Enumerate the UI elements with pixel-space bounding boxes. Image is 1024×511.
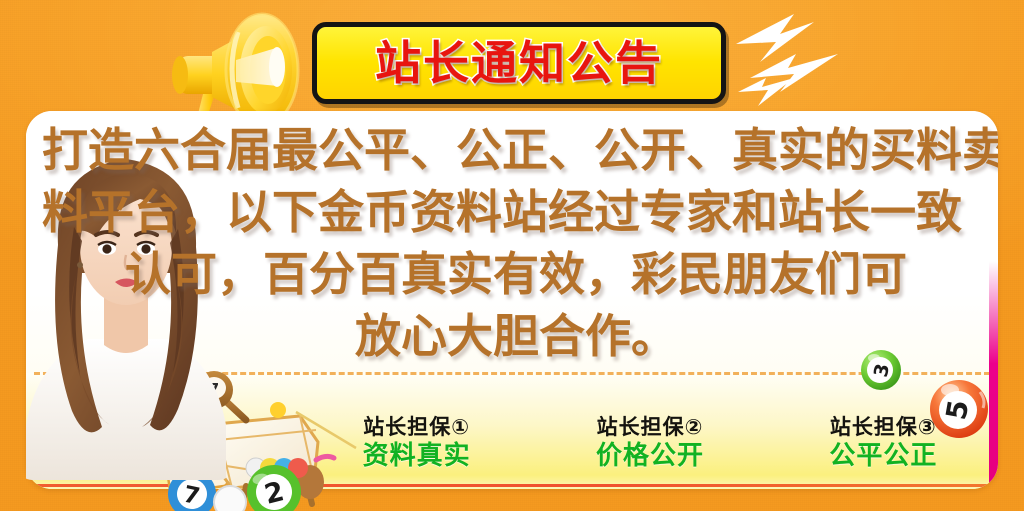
page-title: 站长通知公告 (375, 40, 663, 86)
lightning-bolt-icon (722, 8, 862, 112)
guarantee-sub-3: 公平公正 (767, 440, 1000, 472)
guarantee-title-1: 站长担保① (300, 414, 533, 440)
guarantee-item-3: 站长担保③ 公平公正 (767, 414, 1000, 494)
guarantee-sub-1: 资料真实 (300, 440, 533, 472)
announcement-line-3: 认可，百分百真实有效，彩民朋友们可 (42, 243, 990, 305)
announcement-banner-image: 站长通知公告 打造六合届最公平、公正、公开、真实的买料卖 料平台，以下金币资料站… (0, 0, 1024, 511)
guarantee-sub-2: 价格公开 (533, 440, 766, 472)
announcement-line-4: 放心大胆合作。 (42, 305, 990, 367)
guarantee-title-2: 站长担保② (533, 414, 766, 440)
guarantee-item-2: 站长担保② 价格公开 (533, 414, 766, 494)
announcement-text: 打造六合届最公平、公正、公开、真实的买料卖 料平台，以下金币资料站经过专家和站长… (42, 119, 990, 367)
guarantee-title-3: 站长担保③ (767, 414, 1000, 440)
guarantee-item-1: 站长担保① 资料真实 (300, 414, 533, 494)
lottery-ball-green: 3 (860, 349, 902, 391)
guarantee-list: 站长担保① 资料真实 站长担保② 价格公开 站长担保③ 公平公正 (300, 414, 1000, 494)
announcement-title-banner: 站长通知公告 (312, 22, 726, 104)
announcement-line-1: 打造六合届最公平、公正、公开、真实的买料卖 (42, 119, 990, 181)
announcement-line-2: 料平台，以下金币资料站经过专家和站长一致 (42, 181, 990, 243)
megaphone-icon (150, 2, 330, 124)
